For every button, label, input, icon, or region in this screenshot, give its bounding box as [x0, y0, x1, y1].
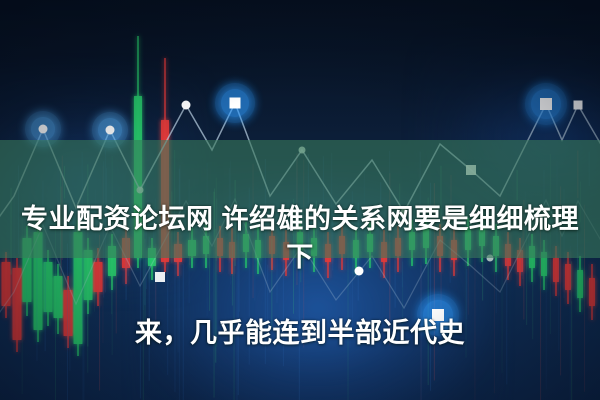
- banner-image: 专业配资论坛网 许绍雄的关系网要是细细梳理下 来，几乎能连到半部近代史: [0, 0, 600, 400]
- headline-text: 专业配资论坛网 许绍雄的关系网要是细细梳理下 来，几乎能连到半部近代史: [0, 162, 600, 352]
- headline-line-1: 专业配资论坛网 许绍雄的关系网要是细细梳理下: [21, 204, 579, 272]
- headline-line-2: 来，几乎能连到半部近代史: [135, 318, 465, 348]
